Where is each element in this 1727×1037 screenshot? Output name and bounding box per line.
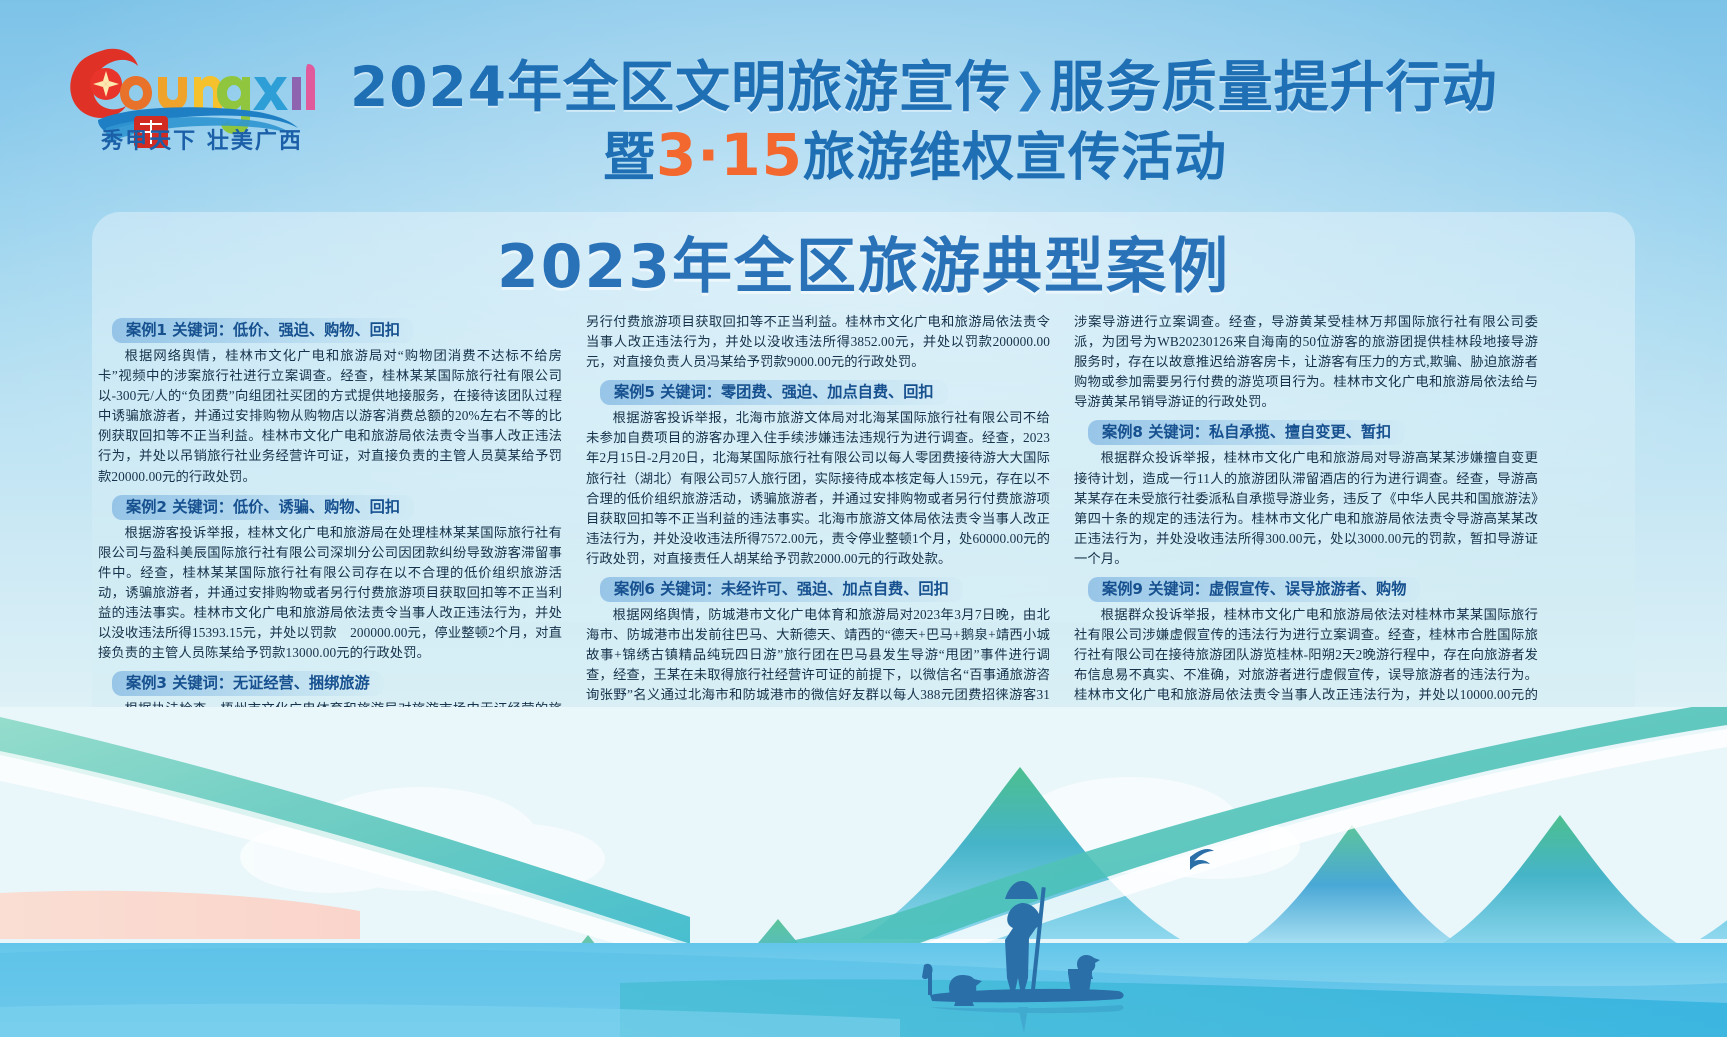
title-line-2-highlight: 3·15 — [656, 121, 803, 189]
title-line-1: 2024年全区文明旅游宣传❯服务质量提升行动 — [350, 56, 1480, 120]
case-heading: 案例8 关键词：私自承揽、擅自变更、暂扣 — [1088, 420, 1405, 445]
guangxi-logo: 秀甲天下 壮美广西 — [62, 24, 342, 152]
case-paragraph: 根据游客投诉举报，北海市旅游文体局对北海某国际旅行社有限公司不给未参加自费项目的… — [586, 408, 1050, 569]
case-paragraph: 根据群众投诉举报，桂林市文化广电和旅游局对导游高某某涉嫌擅自变更接待计划，造成一… — [1074, 448, 1538, 569]
case-heading: 案例6 关键词：未经许可、强迫、加点自费、回扣 — [600, 577, 963, 602]
case-paragraph: 涉案导游进行立案调查。经查，导游黄某受桂林万邦国际旅行社有限公司委派，为团号为W… — [1074, 312, 1538, 412]
case-heading: 案例9 关键词：虚假宣传、误导旅游者、购物 — [1088, 577, 1420, 602]
bottom-scenery — [0, 707, 1727, 1037]
title-line-1-part-b: 服务质量提升行动 — [1050, 55, 1498, 119]
case-paragraph: 根据网络舆情，桂林市文化广电和旅游局对“购物团消费不达标不给房卡”视频中的涉案旅… — [98, 346, 562, 487]
case-paragraph: 另行付费旅游项目获取回扣等不正当利益。桂林市文化广电和旅游局依法责令当事人改正违… — [586, 312, 1050, 372]
case-heading: 案例2 关键词：低价、诱骗、购物、回扣 — [112, 495, 414, 520]
chevron-right-icon: ❯ — [1011, 66, 1050, 112]
title-line-2-part-a: 暨 — [603, 128, 656, 188]
guangxi-logo-icon: 秀甲天下 壮美广西 — [62, 24, 342, 152]
poster-root: 秀甲天下 壮美广西 2024年全区文明旅游宣传❯服务质量提升行动 暨3·15旅游… — [0, 0, 1727, 1037]
title-line-2: 暨3·15旅游维权宣传活动 — [350, 122, 1480, 191]
case-heading: 案例1 关键词：低价、强迫、购物、回扣 — [112, 318, 414, 343]
case-paragraph: 根据游客投诉举报，桂林文化广电和旅游局在处理桂林某某国际旅行社有限公司与盈科美辰… — [98, 523, 562, 664]
svg-text:秀甲天下 壮美广西: 秀甲天下 壮美广西 — [100, 128, 303, 152]
section-title: 2023年全区旅游典型案例 — [92, 224, 1635, 310]
case-heading: 案例5 关键词：零团费、强迫、加点自费、回扣 — [600, 380, 948, 405]
case-heading: 案例3 关键词：无证经营、捆绑旅游 — [112, 671, 384, 696]
section-header: 2023年全区旅游典型案例 — [92, 224, 1635, 312]
poster-title: 2024年全区文明旅游宣传❯服务质量提升行动 暨3·15旅游维权宣传活动 — [350, 56, 1480, 191]
title-line-1-part-a: 2024年全区文明旅游宣传 — [350, 55, 1011, 119]
scenery-illustration — [0, 707, 1727, 1037]
title-line-2-part-b: 旅游维权宣传活动 — [803, 128, 1227, 188]
